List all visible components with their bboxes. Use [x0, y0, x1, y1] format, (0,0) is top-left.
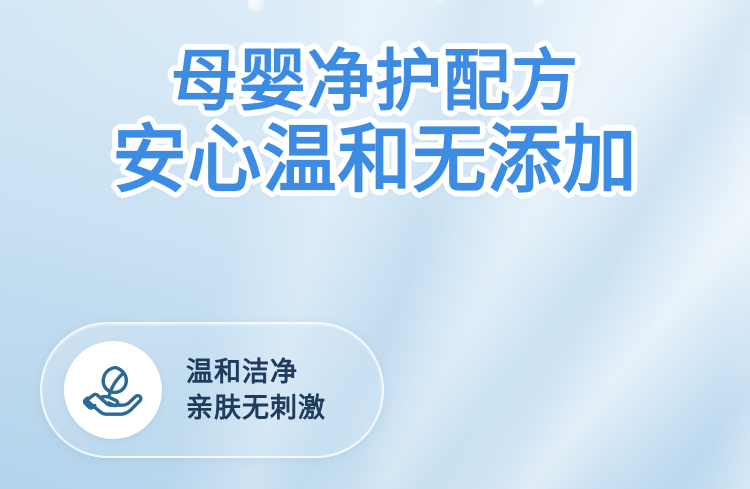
feature-badge: 温和洁净 亲肤无刺激: [40, 322, 384, 458]
headline-line-2: 安心温和无添加: [0, 122, 750, 197]
bubble-speck-icon: [533, 0, 546, 7]
bubble-speck-icon: [248, 0, 264, 12]
feature-text-line-2: 亲肤无刺激: [186, 390, 326, 426]
feature-text: 温和洁净 亲肤无刺激: [186, 354, 326, 426]
headline-block: 母婴净护配方 安心温和无添加: [0, 48, 750, 198]
feature-icon-circle: [64, 341, 162, 439]
hand-holding-leaf-icon: [82, 361, 144, 419]
feature-text-line-1: 温和洁净: [186, 354, 326, 390]
bubble-speck-icon: [434, 0, 445, 4]
headline-line-1: 母婴净护配方: [0, 48, 750, 116]
product-banner: 母婴净护配方 安心温和无添加 温和洁净: [0, 0, 750, 489]
